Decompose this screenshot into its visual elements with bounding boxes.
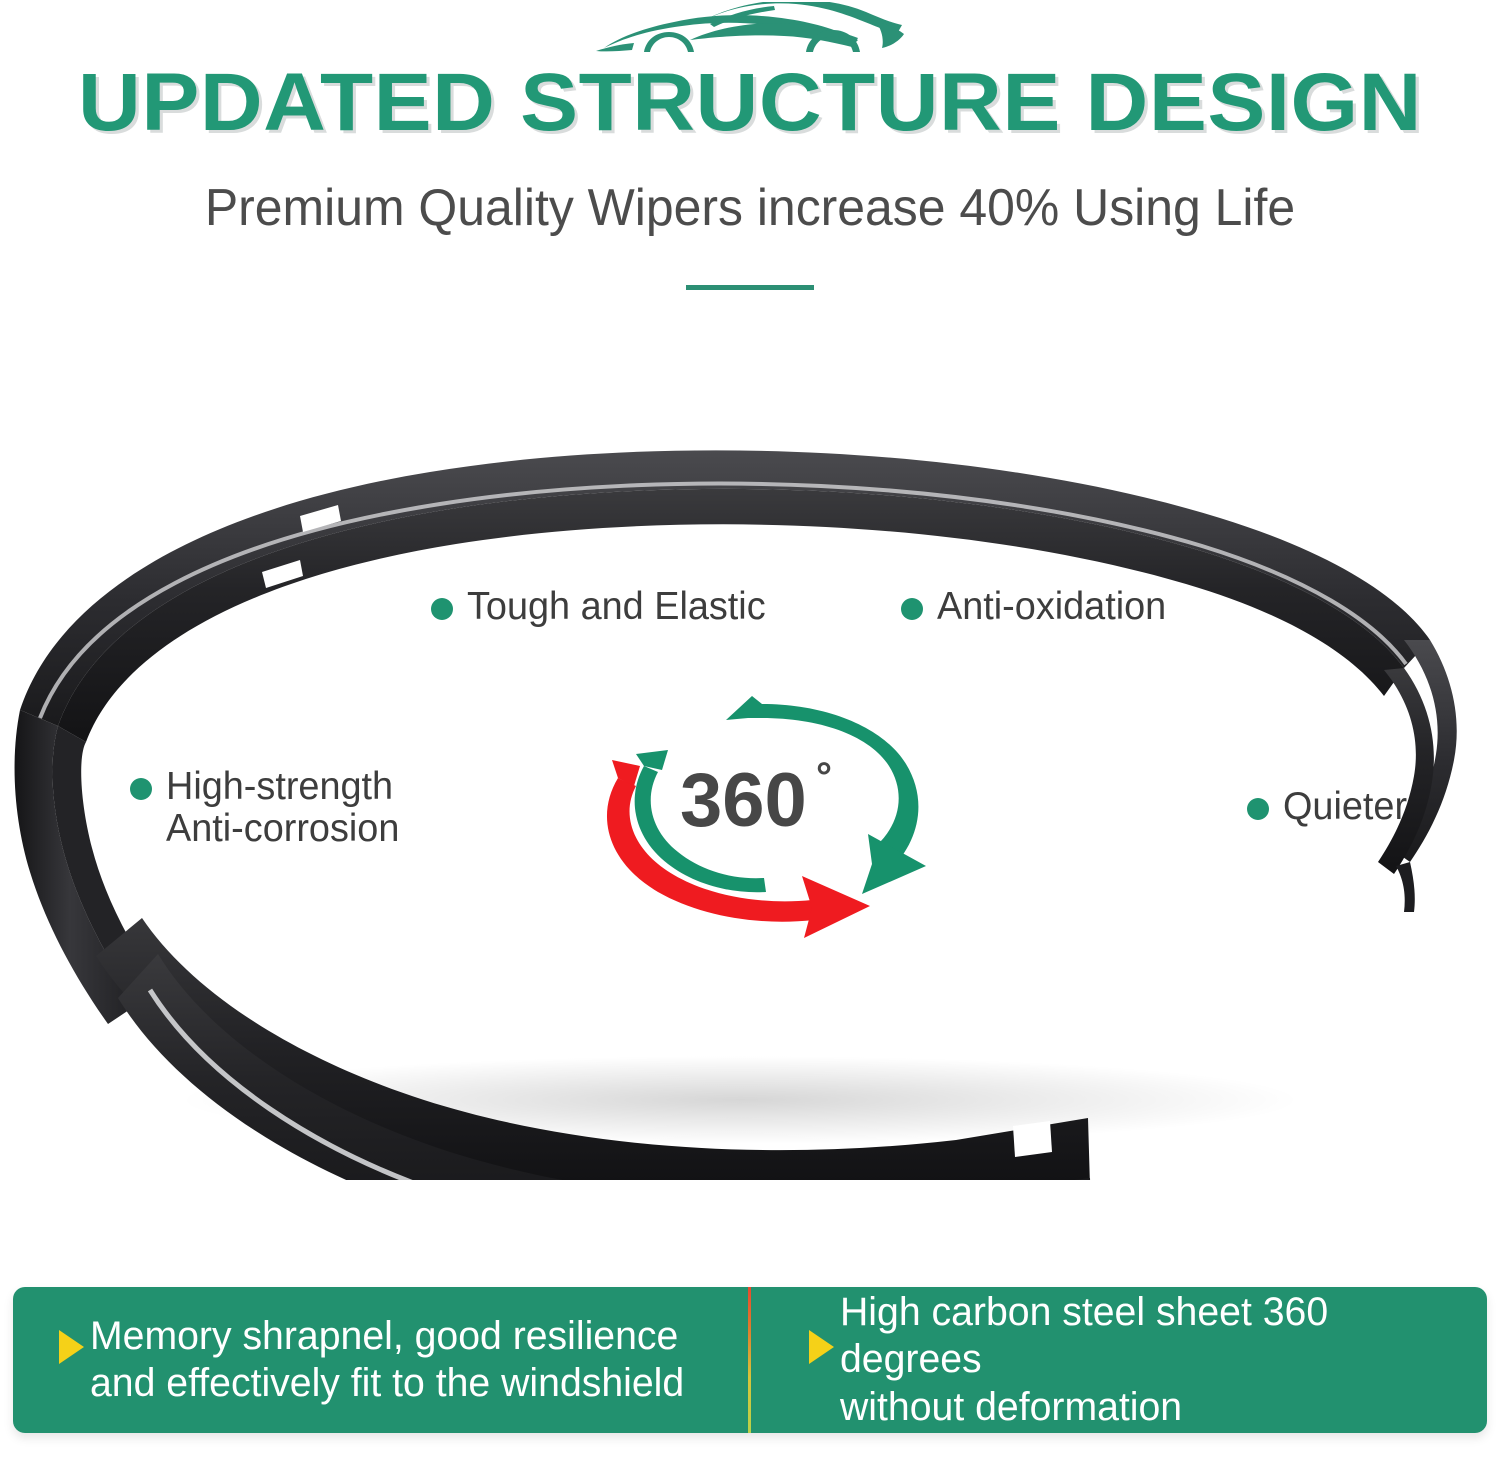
bullet-dot-icon: [1247, 798, 1269, 820]
bullet-dot-icon: [130, 778, 152, 800]
feature-anti-oxidation: Anti-oxidation: [901, 586, 1173, 628]
banner-panel-right: High carbon steel sheet 360 degrees with…: [751, 1287, 1487, 1433]
rotation-360-badge: 360 °: [576, 694, 948, 938]
triangle-right-icon: [59, 1330, 84, 1364]
feature-label: Anti-oxidation: [937, 586, 1166, 628]
product-infographic-page: UPDATED STRUCTURE DESIGN Premium Quality…: [0, 0, 1500, 1475]
feature-label: High-strength Anti-corrosion: [166, 766, 399, 850]
triangle-right-icon: [809, 1330, 834, 1364]
bottom-benefits-banner: Memory shrapnel, good resilience and eff…: [13, 1287, 1487, 1433]
banner-panel-left: Memory shrapnel, good resilience and eff…: [13, 1287, 748, 1433]
banner-left-text: Memory shrapnel, good resilience and eff…: [90, 1313, 684, 1407]
feature-quieter: Quieter: [1247, 786, 1411, 828]
badge-degree-symbol: °: [816, 755, 832, 799]
bullet-dot-icon: [431, 598, 453, 620]
page-title: UPDATED STRUCTURE DESIGN: [0, 62, 1500, 144]
page-subtitle: Premium Quality Wipers increase 40% Usin…: [30, 181, 1470, 236]
title-divider-rule: [686, 285, 814, 290]
bullet-dot-icon: [901, 598, 923, 620]
banner-right-text: High carbon steel sheet 360 degrees with…: [840, 1289, 1474, 1431]
feature-label: Tough and Elastic: [467, 586, 766, 628]
feature-high-strength-anti-corrosion: High-strength Anti-corrosion: [130, 766, 407, 850]
feature-tough-and-elastic: Tough and Elastic: [431, 586, 775, 628]
car-silhouette-icon: [590, 2, 910, 64]
badge-number: 360: [680, 758, 807, 843]
feature-label: Quieter: [1283, 786, 1407, 828]
